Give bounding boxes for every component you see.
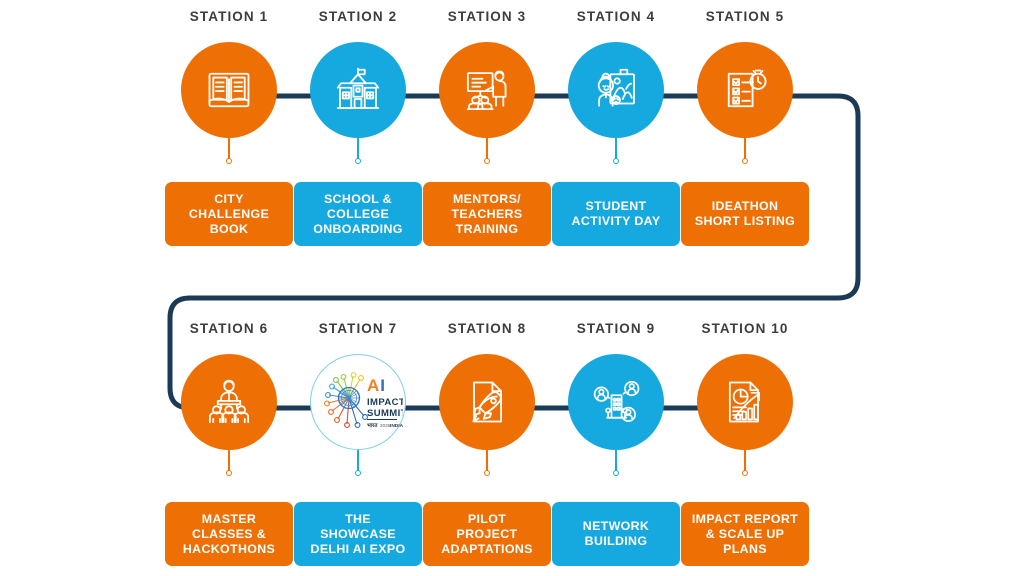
station-10-circle[interactable] — [697, 354, 793, 450]
roadmap-diagram: STATION 1 CITY CHALLENGE BOOK — [0, 0, 1024, 576]
station-2-header: STATION 2 — [294, 8, 422, 26]
network-people-building-icon — [589, 375, 643, 429]
station-2-circle[interactable] — [310, 42, 406, 138]
station-9-label-text: NETWORK BUILDING — [583, 519, 649, 549]
station-8-circle[interactable] — [439, 354, 535, 450]
station-4-header: STATION 4 — [552, 8, 680, 26]
station-6-dot — [226, 470, 232, 476]
station-8-dot — [484, 470, 490, 476]
station-8-label-text: PILOT PROJECT ADAPTATIONS — [441, 512, 533, 557]
station-2[interactable]: STATION 2 — [294, 8, 422, 138]
station-8[interactable]: STATION 8 — [423, 320, 551, 450]
station-5-circle[interactable] — [697, 42, 793, 138]
station-9[interactable]: STATION 9 — [552, 320, 680, 450]
station-6-header: STATION 6 — [165, 320, 293, 338]
station-2-label[interactable]: SCHOOL & COLLEGE ONBOARDING — [294, 182, 422, 246]
station-7-label-text: THE SHOWCASE DELHI AI EXPO — [311, 512, 406, 557]
station-3-label[interactable]: MENTORS/ TEACHERS TRAINING — [423, 182, 551, 246]
station-7-circle[interactable]: AI IMPACT SUMMIT भारत 2026 INDIA — [310, 354, 406, 450]
station-4[interactable]: STATION 4 — [552, 8, 680, 138]
station-3-dot — [484, 158, 490, 164]
station-4-circle[interactable] — [568, 42, 664, 138]
school-building-icon — [331, 63, 385, 117]
station-6-circle[interactable] — [181, 354, 277, 450]
station-7-header: STATION 7 — [294, 320, 422, 338]
station-5-header: STATION 5 — [681, 8, 809, 26]
station-8-label[interactable]: PILOT PROJECT ADAPTATIONS — [423, 502, 551, 566]
station-7-dot — [355, 470, 361, 476]
svg-text:SUMMIT: SUMMIT — [367, 408, 403, 419]
ai-impact-summit-logo-icon: AI IMPACT SUMMIT भारत 2026 INDIA — [311, 354, 405, 450]
teacher-presentation-icon — [460, 63, 514, 117]
svg-text:INDIA: INDIA — [390, 423, 403, 429]
svg-text:IMPACT: IMPACT — [367, 397, 403, 408]
svg-text:AI: AI — [367, 376, 386, 395]
station-9-header: STATION 9 — [552, 320, 680, 338]
station-10-label[interactable]: IMPACT REPORT & SCALE UP PLANS — [681, 502, 809, 566]
station-2-dot — [355, 158, 361, 164]
station-1-label-text: CITY CHALLENGE BOOK — [189, 192, 269, 237]
station-5-label[interactable]: IDEATHON SHORT LISTING — [681, 182, 809, 246]
station-10-label-text: IMPACT REPORT & SCALE UP PLANS — [692, 512, 798, 557]
station-5-label-text: IDEATHON SHORT LISTING — [695, 199, 795, 229]
station-1[interactable]: STATION 1 — [165, 8, 293, 138]
station-1-header: STATION 1 — [165, 8, 293, 26]
station-9-label[interactable]: NETWORK BUILDING — [552, 502, 680, 566]
station-1-circle[interactable] — [181, 42, 277, 138]
station-4-dot — [613, 158, 619, 164]
station-6-label[interactable]: MASTER CLASSES & HACKOTHONS — [165, 502, 293, 566]
station-8-header: STATION 8 — [423, 320, 551, 338]
report-growth-chart-icon — [719, 376, 771, 428]
station-9-dot — [613, 470, 619, 476]
station-4-label[interactable]: STUDENT ACTIVITY DAY — [552, 182, 680, 246]
station-10-dot — [742, 470, 748, 476]
station-2-label-text: SCHOOL & COLLEGE ONBOARDING — [313, 192, 403, 237]
checklist-stopwatch-icon — [719, 64, 771, 116]
station-6-label-text: MASTER CLASSES & HACKOTHONS — [183, 512, 275, 557]
station-3[interactable]: STATION 3 — [423, 8, 551, 138]
child-painting-icon — [589, 63, 643, 117]
station-3-label-text: MENTORS/ TEACHERS TRAINING — [452, 192, 523, 237]
speaker-audience-icon — [202, 375, 256, 429]
document-rocket-icon — [461, 376, 513, 428]
station-1-dot — [226, 158, 232, 164]
station-1-label[interactable]: CITY CHALLENGE BOOK — [165, 182, 293, 246]
station-6[interactable]: STATION 6 — [165, 320, 293, 450]
station-5-dot — [742, 158, 748, 164]
station-5[interactable]: STATION 5 — [681, 8, 809, 138]
station-7[interactable]: STATION 7 — [294, 320, 422, 450]
station-7-label[interactable]: THE SHOWCASE DELHI AI EXPO — [294, 502, 422, 566]
open-book-icon — [203, 64, 255, 116]
station-3-circle[interactable] — [439, 42, 535, 138]
station-4-label-text: STUDENT ACTIVITY DAY — [572, 199, 661, 229]
station-10[interactable]: STATION 10 — [681, 320, 809, 450]
station-10-header: STATION 10 — [681, 320, 809, 338]
station-3-header: STATION 3 — [423, 8, 551, 26]
station-9-circle[interactable] — [568, 354, 664, 450]
svg-text:भारत: भारत — [367, 423, 378, 429]
